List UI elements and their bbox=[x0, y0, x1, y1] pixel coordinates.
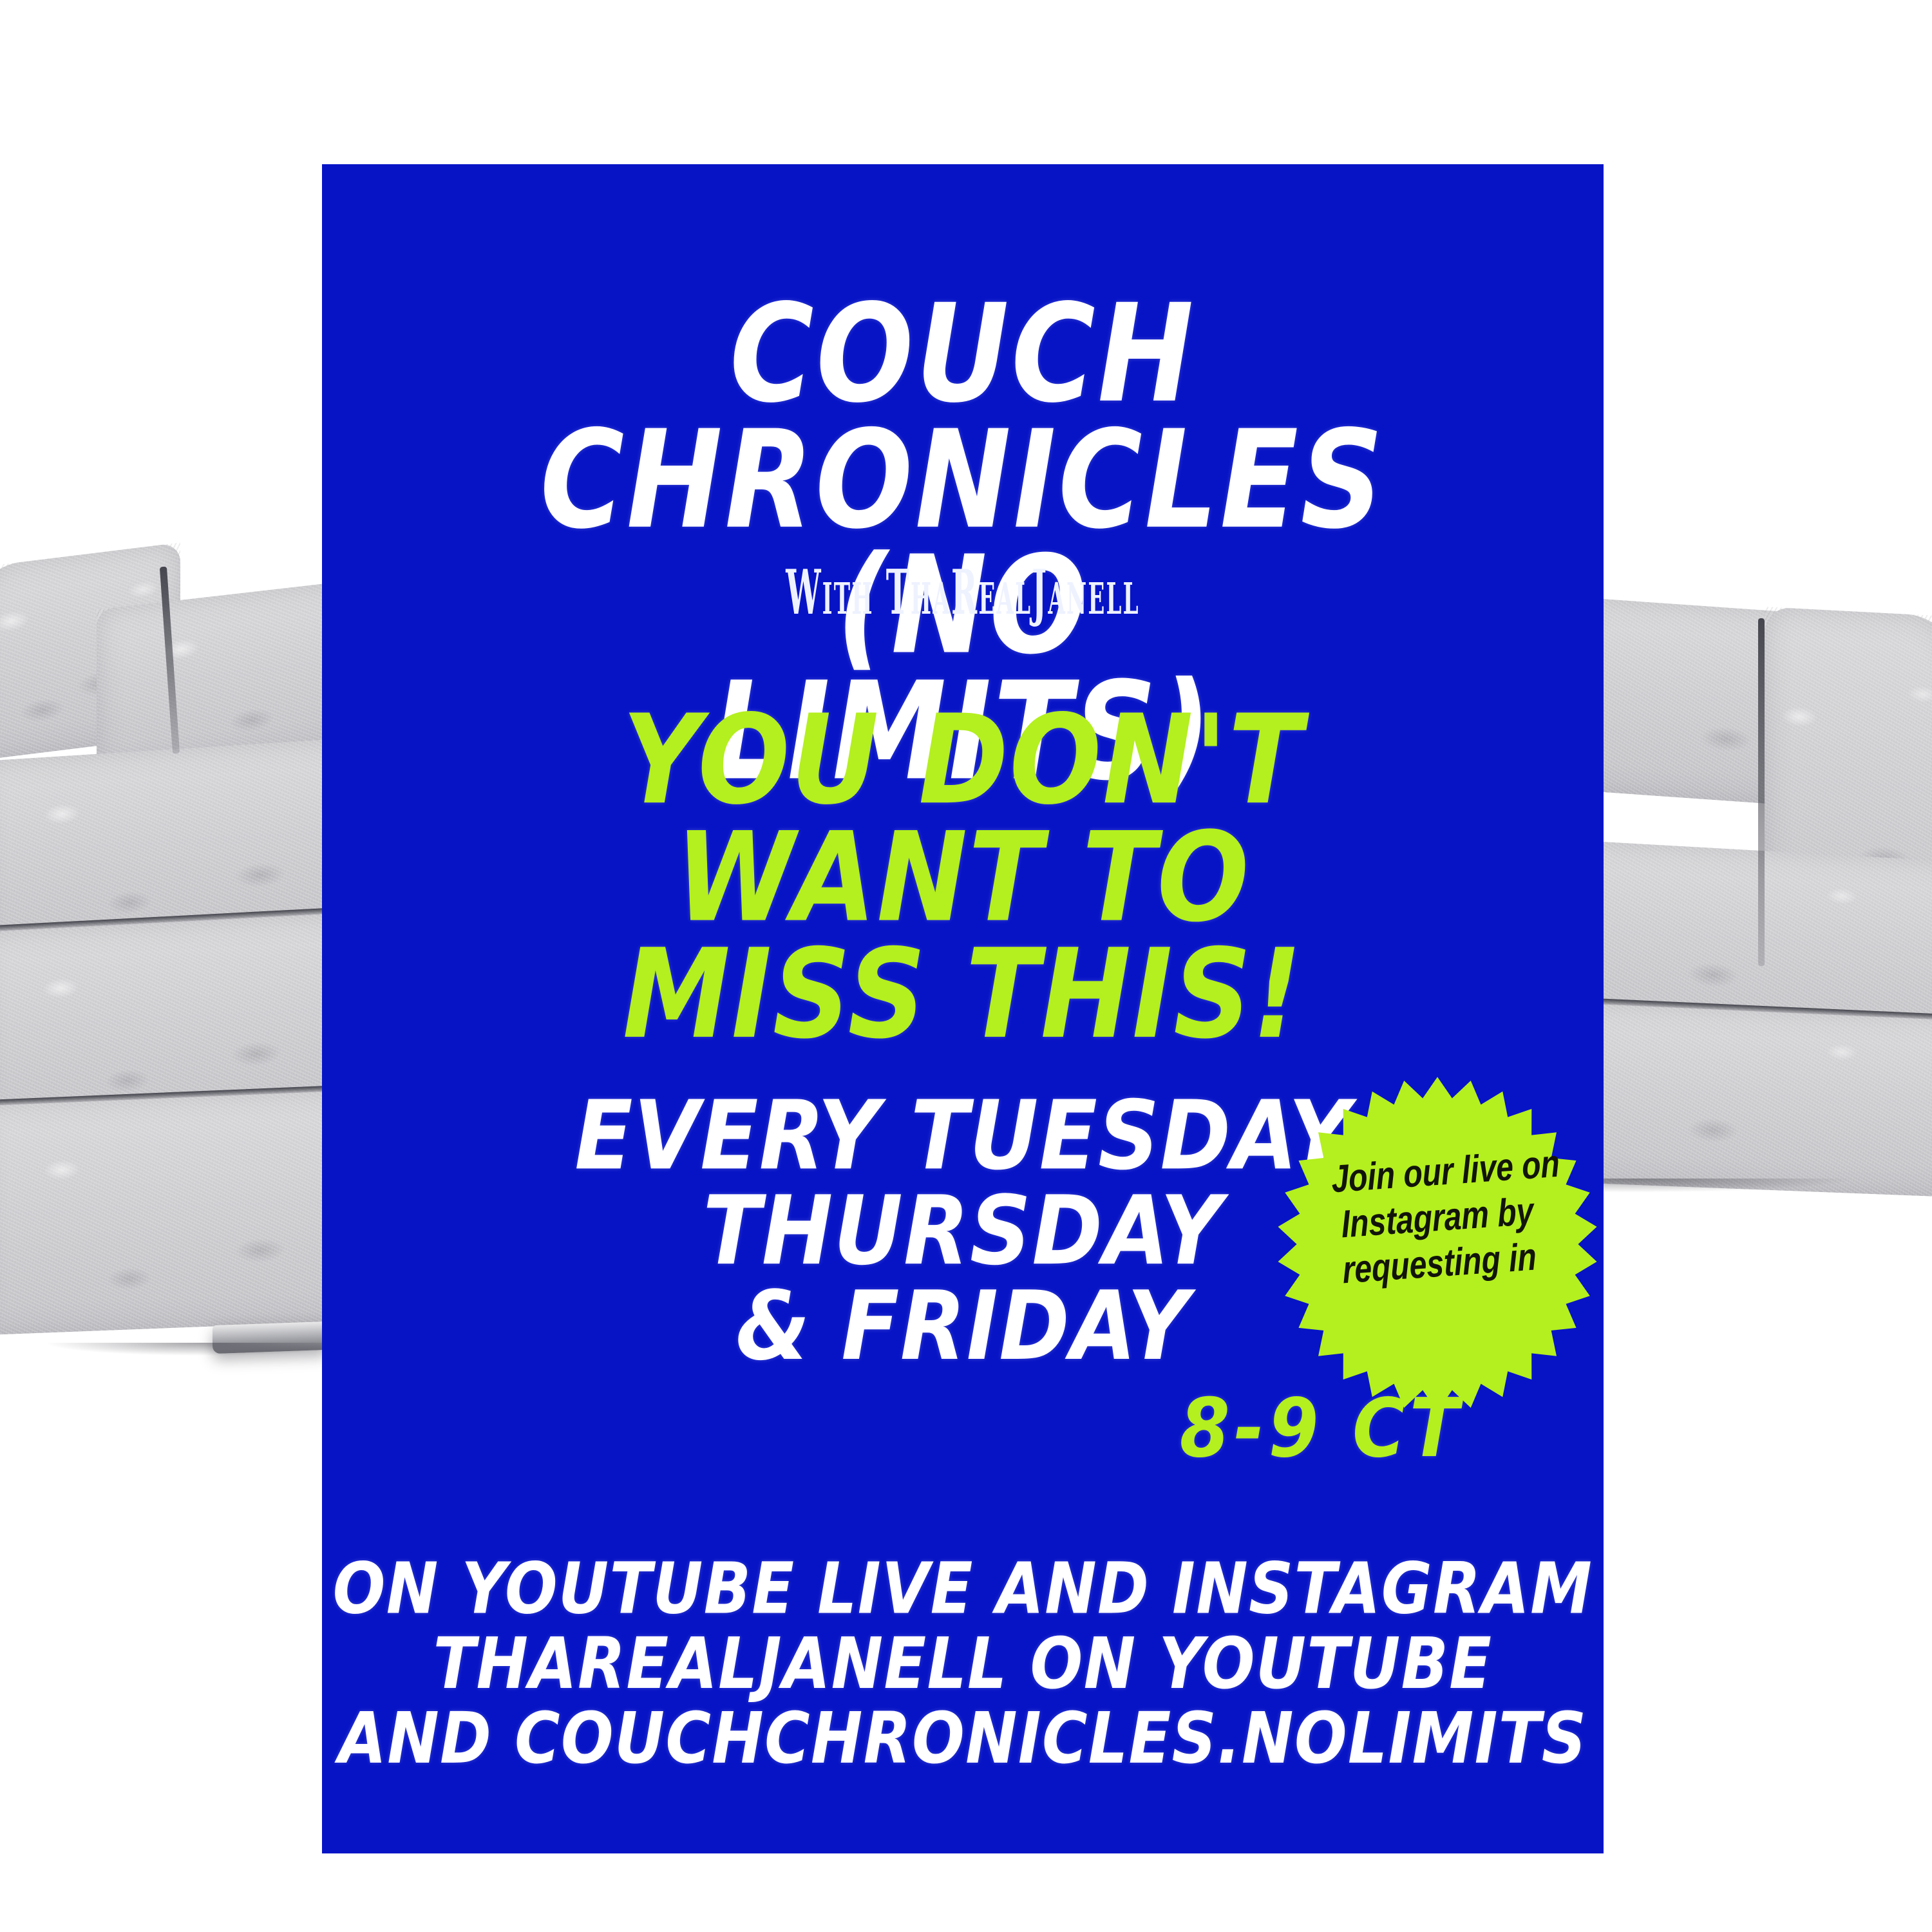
hook-line-3: MISS THIS! bbox=[322, 936, 1604, 1054]
hook-line-2: WANT TO bbox=[322, 819, 1604, 936]
footer-line-1: ON YOUTUBE LIVE AND INSTAGRAM bbox=[322, 1552, 1604, 1627]
couch-seam bbox=[1758, 618, 1765, 967]
starburst-badge: Join our live on Instagram by requesting… bbox=[1274, 1074, 1601, 1415]
hook-line-1: YOU DON'T bbox=[322, 702, 1604, 819]
title-line-2: CHRONICLES bbox=[322, 417, 1604, 543]
footer-line-2: THAREALJANELL ON YOUTUBE bbox=[322, 1627, 1604, 1701]
poster-canvas: COUCH CHRONICLES (NO LIMITS) With ThaRea… bbox=[0, 0, 1932, 1932]
footer-text: ON YOUTUBE LIVE AND INSTAGRAM THAREALJAN… bbox=[322, 1552, 1604, 1776]
hook-headline: YOU DON'T WANT TO MISS THIS! bbox=[322, 702, 1604, 1054]
host-subtitle: With ThaRealJanell bbox=[565, 557, 1360, 629]
title-line-1: COUCH bbox=[322, 291, 1604, 417]
badge-text: Join our live on Instagram by requesting… bbox=[1331, 1142, 1544, 1294]
blue-panel: COUCH CHRONICLES (NO LIMITS) With ThaRea… bbox=[322, 164, 1604, 1853]
footer-line-3: AND COUCHCHRONICLES.NOLIMITS bbox=[322, 1701, 1604, 1776]
